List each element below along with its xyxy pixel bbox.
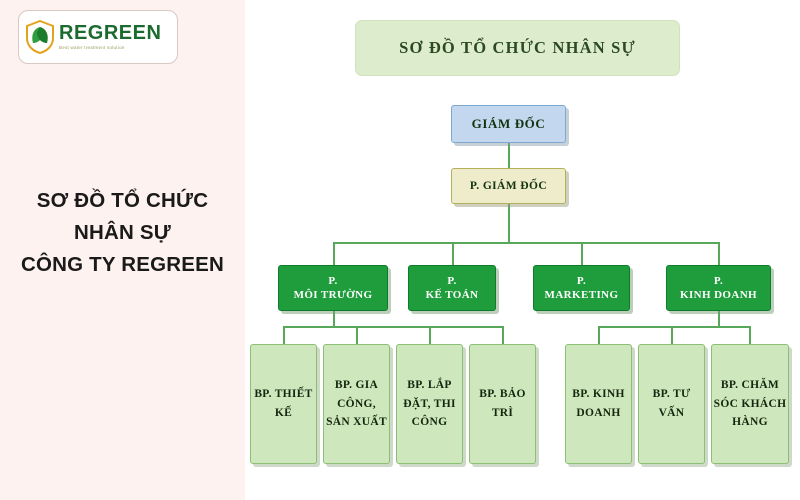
connector-dept3-bus [718, 311, 720, 326]
node-unit-tu-van: BP. TƯ VẤN [638, 344, 705, 464]
node-department-ke-toan: P. KẾ TOÁN [408, 265, 496, 311]
brand-tagline: Best water treatment solution [59, 46, 161, 50]
connector-vice-bus [508, 204, 510, 242]
connector-department-bus [333, 242, 719, 244]
connector-director-vice [508, 143, 510, 168]
page-title-line-1: SƠ ĐỒ TỔ CHỨC [0, 185, 245, 217]
node-unit-cham-soc-khach-hang: BP. CHĂM SÓC KHÁCH HÀNG [711, 344, 789, 464]
left-panel: REGREEN Best water treatment solution SƠ… [0, 0, 245, 500]
node-vice-director: P. GIÁM ĐỐC [451, 168, 566, 204]
brand-name: REGREEN [59, 23, 161, 43]
chart-title-banner: SƠ ĐỒ TỔ CHỨC NHÂN SỰ [355, 20, 680, 76]
connector-bus-unit-3 [502, 326, 504, 344]
connector-bus-dept-0 [333, 242, 335, 265]
connector-bus-unit-5 [671, 326, 673, 344]
page-title: SƠ ĐỒ TỔ CHỨC NHÂN SỰ CÔNG TY REGREEN [0, 185, 245, 280]
page-title-line-3: CÔNG TY REGREEN [0, 249, 245, 281]
node-unit-bao-tri: BP. BẢO TRÌ [469, 344, 536, 464]
dept-1-line-1: P. [447, 275, 456, 287]
connector-bus-unit-0 [283, 326, 285, 344]
node-department-moi-truong: P. MÔI TRƯỜNG [278, 265, 388, 311]
page-title-line-2: NHÂN SỰ [0, 217, 245, 249]
node-department-kinh-doanh: P. KINH DOANH [666, 265, 771, 311]
brand-logo: REGREEN Best water treatment solution [18, 10, 178, 64]
connector-unit-bus-right [598, 326, 750, 328]
dept-1-line-2: KẾ TOÁN [426, 289, 479, 301]
org-chart-panel: SƠ ĐỒ TỔ CHỨC NHÂN SỰ GIÁM ĐỐC P. GIÁM Đ… [245, 0, 800, 500]
dept-3-line-1: P. [714, 275, 723, 287]
connector-bus-dept-2 [581, 242, 583, 265]
org-chart: SƠ ĐỒ TỔ CHỨC NHÂN SỰ GIÁM ĐỐC P. GIÁM Đ… [245, 0, 800, 500]
node-unit-kinh-doanh: BP. KINH DOANH [565, 344, 632, 464]
leaf-icon [25, 20, 55, 54]
connector-bus-dept-3 [718, 242, 720, 265]
connector-bus-unit-6 [749, 326, 751, 344]
node-unit-lap-dat-thi-cong: BP. LẮP ĐẶT, THI CÔNG [396, 344, 463, 464]
connector-unit-bus-left [283, 326, 503, 328]
connector-bus-dept-1 [452, 242, 454, 265]
connector-bus-unit-4 [598, 326, 600, 344]
node-department-marketing: P. MARKETING [533, 265, 630, 311]
dept-2-line-1: P. [577, 275, 586, 287]
dept-0-line-2: MÔI TRƯỜNG [294, 289, 373, 301]
dept-0-line-1: P. [328, 275, 337, 287]
brand-text: REGREEN Best water treatment solution [59, 23, 161, 50]
connector-dept0-bus [333, 311, 335, 326]
node-unit-gia-cong-san-xuat: BP. GIA CÔNG, SẢN XUẤT [323, 344, 390, 464]
node-unit-thiet-ke: BP. THIẾT KẾ [250, 344, 317, 464]
connector-bus-unit-2 [429, 326, 431, 344]
dept-2-line-2: MARKETING [545, 289, 619, 301]
dept-3-line-2: KINH DOANH [680, 289, 757, 301]
node-director: GIÁM ĐỐC [451, 105, 566, 143]
connector-bus-unit-1 [356, 326, 358, 344]
